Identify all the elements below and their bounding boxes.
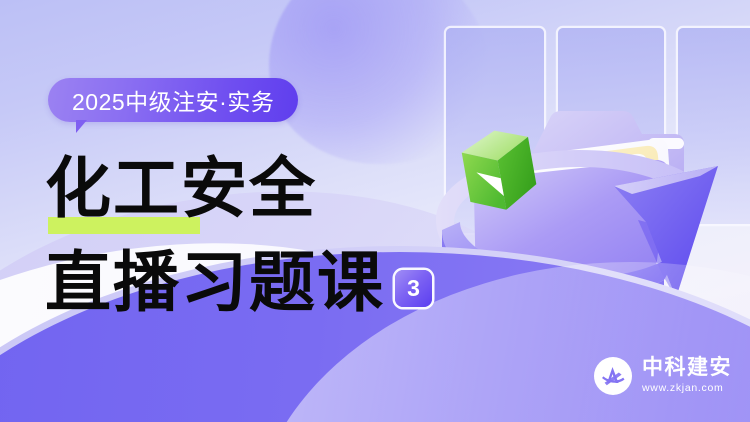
brand-name: 中科建安 [642,357,732,380]
page-title-line1: 化工安全 [45,157,317,223]
subtitle-pill: 2025中级注安·实务 [48,78,298,122]
page-title-line2: 直播习题课 [45,251,385,317]
zkjan-circle-mark-icon [593,356,633,396]
pill-tail-icon [76,120,87,133]
episode-badge: 3 [395,270,432,307]
subtitle-pill-wrap: 2025中级注安·实务 [48,78,298,122]
brand-website: www.zkjan.com [642,382,723,396]
page-title-line2-row: 直播习题课 3 [45,251,432,317]
course-banner: 2025中级注安·实务 化工安全 直播习题课 3 中科建安 www.zkjan.… [0,0,750,422]
brand-text: 中科建安 www.zkjan.com [642,357,732,395]
brand-logo: 中科建安 www.zkjan.com [593,356,732,396]
